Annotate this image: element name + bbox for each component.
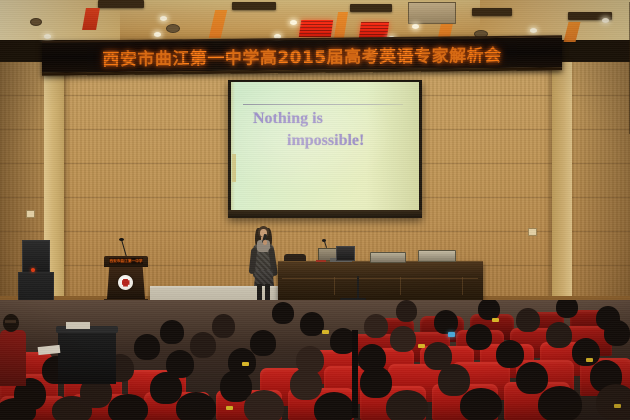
audience-head [604,320,630,346]
audience-head [396,300,417,322]
audio-unit-2 [418,250,456,262]
audience-head [0,398,36,420]
audience-head [364,314,388,338]
ceiling-downlight [290,20,297,25]
presenter [246,226,280,302]
audience-head [538,386,582,420]
audience-head [556,300,578,318]
laptop-screen [336,246,355,261]
conference-table [278,262,483,300]
podium-led-display: 西安市曲江第一中学 [109,258,143,264]
audience-head [466,324,492,350]
audience-head [300,312,324,336]
table-panel-seam [400,277,401,295]
wall-outlet [26,210,35,218]
projection-screen: Nothing is impossible! [231,82,419,210]
audience-head [460,388,502,420]
ceiling-orange-stripe [209,10,227,38]
ceiling-downlight [154,32,161,37]
audience-head [314,392,354,420]
audience-badge [242,362,249,366]
audio-unit-1 [370,252,406,263]
presenter-leg-right [265,284,270,300]
wall-pilaster-right [552,62,572,300]
control-console [58,330,116,384]
auditorium-photo: 西安市曲江第一中学高2015届高考英语专家解析会 Nothing is impo… [0,0,630,420]
audience-badge [614,404,621,408]
ceiling-beam [98,0,144,8]
audience-head [438,364,470,396]
technician-head [3,314,19,332]
aisle-rail [352,330,358,418]
audience-head [516,362,548,394]
audience-head [150,372,182,404]
audience-head [390,326,416,352]
audience-head [596,384,630,420]
led-banner-text: 西安市曲江第一中学高2015届高考英语专家解析会 [102,40,501,69]
table-skirt-seam [282,278,478,279]
presenter-leg-left [257,284,262,300]
audience-head [272,302,294,324]
technician-body [0,330,26,386]
audience-head [360,366,392,398]
audience-head [478,300,500,320]
projection-screen-frame: Nothing is impossible! [228,80,422,218]
screen-bottom-bar [228,210,422,218]
audience-head [546,322,572,348]
ceiling-downlight [160,16,167,21]
cable-drop [357,276,359,300]
ceiling-vent [30,18,42,26]
ceiling-downlight [530,28,537,33]
ceiling-beam [232,2,276,10]
presenter-hand [263,240,267,245]
audience-badge [586,358,593,362]
ceiling-speaker-box [408,2,456,24]
audience-head [134,334,160,360]
podium-microphone-head-icon [119,238,124,241]
ceiling-beam [350,4,392,12]
audience-head [52,396,92,420]
audience-badge [226,406,233,410]
phone-screen-glow [448,332,455,337]
audience-head [176,392,216,420]
audience-head [434,310,458,334]
ceiling [0,0,630,40]
audience-badge [322,330,329,334]
screen-side-tab [232,154,236,182]
audience-head [212,314,235,338]
audience-head [516,308,540,332]
led-banner: 西安市曲江第一中学高2015届高考英语专家解析会 [42,35,562,75]
red-cable [316,260,326,262]
paper-sheet [66,322,90,329]
table-panel-seam [462,277,463,295]
table-panel-seam [334,277,335,295]
ceiling-vent [166,24,180,33]
ceiling-downlight [44,34,51,39]
podium-top: 西安市曲江第一中学 [104,256,148,267]
audience-badge [492,318,499,322]
school-emblem-inner [122,279,130,287]
audience-head [386,390,428,420]
audience-head [496,340,524,368]
audience-head [108,394,148,420]
audience-head [290,368,322,400]
ceiling-downlight [412,24,419,29]
ceiling-beam [472,8,512,16]
pa-speaker-indicator-light [31,268,35,272]
ceiling-downlight [602,18,609,23]
ceiling-red-panel [299,20,333,37]
audience-head [250,330,276,356]
audience-badge [418,344,425,348]
audience-head [244,390,284,420]
wall-outlet [528,228,537,236]
audience-head [190,332,216,358]
podium-led-text: 西安市曲江第一中学 [109,258,142,264]
screen-light-falloff [231,82,419,210]
glasses-icon [5,320,16,323]
school-emblem-icon [118,275,133,290]
audience-head [160,320,184,344]
desk-microphone-head-icon [322,239,326,242]
ceiling-orange-stripe [334,12,348,38]
ceiling-red-panel [359,22,389,38]
